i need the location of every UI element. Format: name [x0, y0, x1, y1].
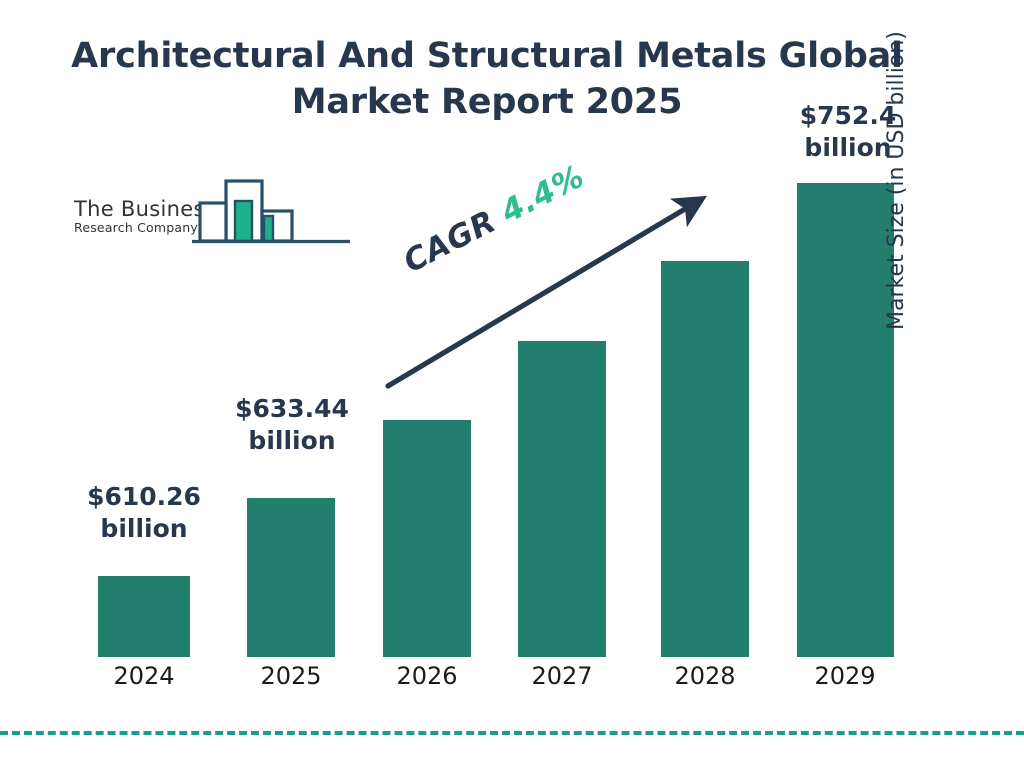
- bar-2028[interactable]: [661, 261, 749, 657]
- bar-label-2024-unit: billion: [74, 513, 214, 545]
- bar-2024[interactable]: [98, 576, 190, 657]
- bar-label-2024: $610.26 billion: [74, 481, 214, 544]
- x-tick-2026: 2026: [357, 662, 497, 690]
- footer-divider: [0, 731, 1024, 735]
- bar-2029[interactable]: [797, 183, 894, 657]
- x-tick-2028: 2028: [635, 662, 775, 690]
- bar-label-2024-value: $610.26: [74, 481, 214, 513]
- bar-2026[interactable]: [383, 420, 471, 657]
- logo-bar-chart-icon: [192, 178, 352, 263]
- x-tick-2024: 2024: [74, 662, 214, 690]
- bar-label-2025: $633.44 billion: [222, 393, 362, 456]
- bar-2025[interactable]: [247, 498, 335, 657]
- company-logo: The Business Research Company: [70, 192, 285, 254]
- x-tick-2025: 2025: [221, 662, 361, 690]
- x-tick-2027: 2027: [492, 662, 632, 690]
- y-axis-title: Market Size (in USD billion): [884, 0, 909, 330]
- chart-canvas: Architectural And Structural Metals Glob…: [0, 0, 1024, 768]
- bar-label-2025-value: $633.44: [222, 393, 362, 425]
- bar-label-2025-unit: billion: [222, 425, 362, 457]
- bar-2027[interactable]: [518, 341, 606, 657]
- x-tick-2029: 2029: [775, 662, 915, 690]
